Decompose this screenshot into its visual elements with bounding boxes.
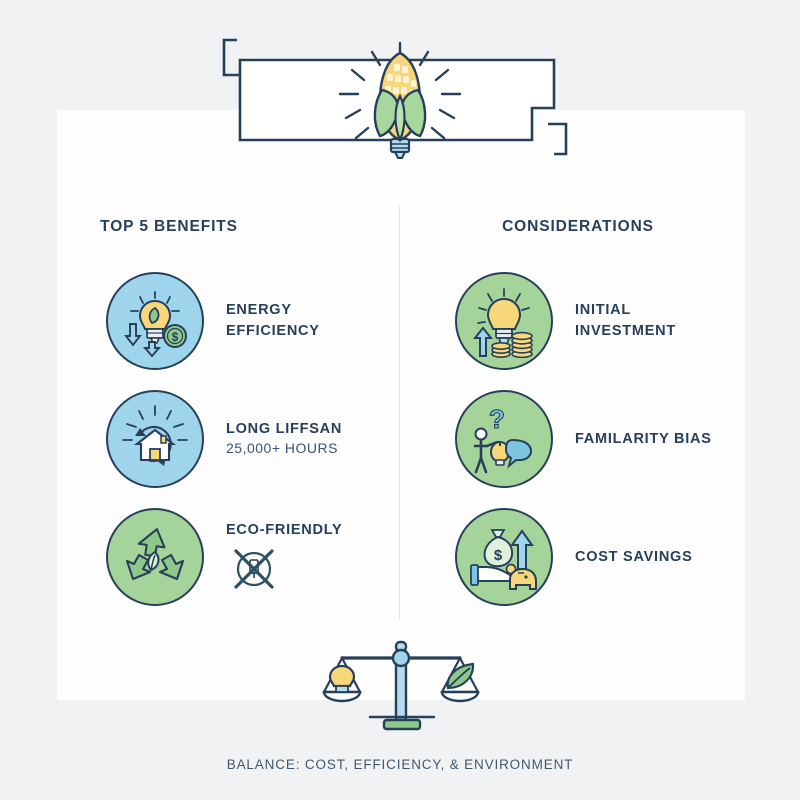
list-item-text: LONG LIFFSAN 25,000+ HOURS	[226, 419, 342, 459]
list-item[interactable]: INITIAL INVESTMENT	[401, 262, 745, 380]
list-item-subtitle: 25,000+ HOURS	[226, 439, 342, 459]
list-item-title: ECO-FRIENDLY	[226, 520, 342, 541]
list-item-title: INITIAL	[575, 300, 676, 321]
no-mercury-crossed-circle-icon	[226, 544, 342, 594]
list-item[interactable]: ? FAMILARITY	[401, 380, 745, 498]
infographic-page: TOP 5 BENEFITS	[0, 0, 800, 800]
list-item-text: COST SAVINGS	[575, 547, 693, 568]
consideration-rows: INITIAL INVESTMENT ?	[401, 262, 745, 616]
list-item-title-line2: EFFICIENCY	[226, 321, 320, 342]
list-item-title: COST SAVINGS	[575, 547, 693, 568]
list-item-title: LONG LIFFSAN	[226, 419, 342, 440]
column-title-considerations: CONSIDERATIONS	[401, 218, 745, 236]
badge-eco-friendly	[106, 508, 204, 606]
badge-initial-investment	[455, 272, 553, 370]
list-item-text: ENERGY EFFICIENCY	[226, 300, 320, 341]
list-item-text: INITIAL INVESTMENT	[575, 300, 676, 341]
svg-text:$: $	[494, 547, 503, 564]
list-item-title: ENERGY	[226, 300, 320, 321]
comparison-columns: TOP 5 BENEFITS	[57, 205, 745, 625]
column-considerations: CONSIDERATIONS	[401, 205, 745, 625]
column-title-benefits: TOP 5 BENEFITS	[57, 218, 401, 236]
list-item[interactable]: ECO-FRIENDLY	[57, 498, 401, 616]
list-item-title: FAMILARITY BIAS	[575, 429, 712, 450]
footer-caption: BALANCE: COST, EFFICIENCY, & ENVIRONMENT	[0, 757, 800, 772]
balance-scale-bulb-leaf-icon	[318, 638, 486, 733]
list-item[interactable]: $ ENERGY EFFICIENCY	[57, 262, 401, 380]
column-benefits: TOP 5 BENEFITS	[57, 205, 401, 625]
badge-familarity-bias: ?	[455, 390, 553, 488]
badge-energy-efficiency: $	[106, 272, 204, 370]
benefit-rows: $ ENERGY EFFICIENCY	[57, 262, 401, 616]
svg-text:$: $	[172, 330, 179, 344]
corn-lightbulb-icon	[332, 40, 468, 170]
svg-text:?: ?	[489, 404, 505, 434]
badge-cost-savings: $	[455, 508, 553, 606]
list-item[interactable]: $ COST SAVINGS	[401, 498, 745, 616]
list-item[interactable]: LONG LIFFSAN 25,000+ HOURS	[57, 380, 401, 498]
list-item-text: ECO-FRIENDLY	[226, 520, 342, 595]
list-item-title-line2: INVESTMENT	[575, 321, 676, 342]
badge-long-lifespan	[106, 390, 204, 488]
list-item-text: FAMILARITY BIAS	[575, 429, 712, 450]
